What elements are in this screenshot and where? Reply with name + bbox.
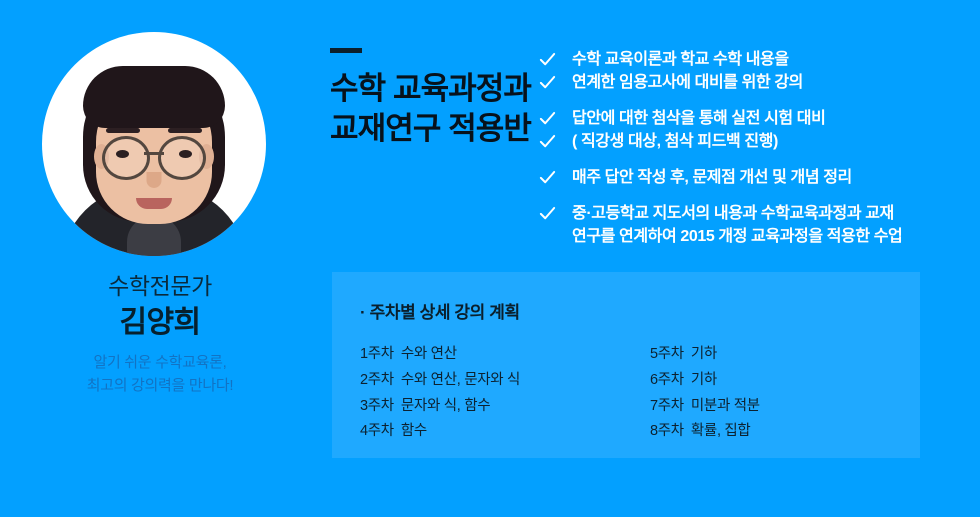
- feature-text: 중·고등학교 지도서의 내용과 수학교육과정과 교재 연구를 연계하여 2015…: [572, 202, 902, 248]
- instructor-role: 수학전문가: [0, 274, 320, 299]
- schedule-row: 8주차확률, 집합: [650, 419, 900, 445]
- week-topic: 기하: [691, 346, 717, 362]
- schedule-row: 1주차수와 연산: [360, 342, 650, 368]
- course-title-line1: 수학 교육과정과: [330, 69, 531, 109]
- course-title: 수학 교육과정과 교재연구 적용반: [330, 69, 531, 148]
- instructor-tagline: 알기 쉬운 수학교육론, 최고의 강의력을 만나다!: [0, 351, 320, 398]
- instructor-tagline-line1: 알기 쉬운 수학교육론,: [0, 351, 320, 374]
- week-label: 6주차: [650, 372, 684, 388]
- week-label: 2주차: [360, 372, 394, 388]
- feature-text: 답안에 대한 첨삭을 통해 실전 시험 대비 ( 직강생 대상, 첨삭 피드백 …: [572, 107, 825, 153]
- feature-line: 중·고등학교 지도서의 내용과 수학교육과정과 교재: [572, 202, 902, 225]
- schedule-row: 4주차함수: [360, 419, 650, 445]
- feature-line: 연계한 임용고사에 대비를 위한 강의: [572, 71, 803, 94]
- week-label: 8주차: [650, 423, 684, 439]
- feature-line: 연구를 연계하여 2015 개정 교육과정을 적용한 수업: [572, 225, 902, 248]
- feature-line: 매주 답안 작성 후, 문제점 개선 및 개념 정리: [572, 166, 852, 189]
- week-label: 3주차: [360, 398, 394, 414]
- course-title-line2: 교재연구 적용반: [330, 109, 531, 149]
- feature-item: 답안에 대한 첨삭을 통해 실전 시험 대비 ( 직강생 대상, 첨삭 피드백 …: [538, 107, 958, 153]
- schedule-row: 2주차수와 연산, 문자와 식: [360, 368, 650, 394]
- schedule-column-right: 5주차기하 6주차기하 7주차미분과 적분 8주차확률, 집합: [650, 342, 900, 445]
- week-label: 5주차: [650, 346, 684, 362]
- feature-text: 매주 답안 작성 후, 문제점 개선 및 개념 정리: [572, 166, 852, 189]
- schedule-row: 7주차미분과 적분: [650, 394, 900, 420]
- week-topic: 확률, 집합: [691, 423, 751, 439]
- week-topic: 수와 연산, 문자와 식: [401, 372, 520, 388]
- week-label: 7주차: [650, 398, 684, 414]
- week-label: 4주차: [360, 423, 394, 439]
- instructor-name: 김양희: [0, 306, 320, 339]
- course-title-block: 수학 교육과정과 교재연구 적용반: [330, 48, 531, 148]
- check-icon: [538, 73, 557, 92]
- schedule-row: 5주차기하: [650, 342, 900, 368]
- feature-line: 수학 교육이론과 학교 수학 내용을: [572, 48, 803, 71]
- schedule-panel: · 주차별 상세 강의 계획 1주차수와 연산 2주차수와 연산, 문자와 식 …: [332, 272, 920, 458]
- instructor-portrait: [42, 32, 266, 256]
- title-rule-accent: [330, 48, 362, 53]
- check-column: [538, 48, 572, 92]
- check-icon: [538, 50, 557, 69]
- schedule-row: 3주차문자와 식, 함수: [360, 394, 650, 420]
- feature-line: ( 직강생 대상, 첨삭 피드백 진행): [572, 130, 825, 153]
- schedule-row: 6주차기하: [650, 368, 900, 394]
- feature-list: 수학 교육이론과 학교 수학 내용을 연계한 임용고사에 대비를 위한 강의 답…: [538, 48, 958, 248]
- schedule-columns: 1주차수와 연산 2주차수와 연산, 문자와 식 3주차문자와 식, 함수 4주…: [360, 342, 900, 445]
- feature-line: 답안에 대한 첨삭을 통해 실전 시험 대비: [572, 107, 825, 130]
- schedule-heading: · 주차별 상세 강의 계획: [360, 298, 520, 323]
- feature-text: 수학 교육이론과 학교 수학 내용을 연계한 임용고사에 대비를 위한 강의: [572, 48, 803, 94]
- week-topic: 미분과 적분: [691, 398, 760, 414]
- check-icon: [538, 168, 557, 187]
- instructor-tagline-line2: 최고의 강의력을 만나다!: [0, 374, 320, 397]
- check-column: [538, 107, 572, 151]
- check-icon: [538, 132, 557, 151]
- feature-item: 중·고등학교 지도서의 내용과 수학교육과정과 교재 연구를 연계하여 2015…: [538, 202, 958, 248]
- check-column: [538, 202, 572, 223]
- feature-item: 매주 답안 작성 후, 문제점 개선 및 개념 정리: [538, 166, 958, 189]
- week-topic: 함수: [401, 423, 427, 439]
- check-icon: [538, 109, 557, 128]
- portrait-illustration: [42, 32, 266, 256]
- week-topic: 수와 연산: [401, 346, 457, 362]
- feature-item: 수학 교육이론과 학교 수학 내용을 연계한 임용고사에 대비를 위한 강의: [538, 48, 958, 94]
- check-icon: [538, 204, 557, 223]
- week-topic: 문자와 식, 함수: [401, 398, 490, 414]
- schedule-column-left: 1주차수와 연산 2주차수와 연산, 문자와 식 3주차문자와 식, 함수 4주…: [360, 342, 650, 445]
- instructor-column: 수학전문가 김양희 알기 쉬운 수학교육론, 최고의 강의력을 만나다!: [0, 0, 320, 517]
- week-topic: 기하: [691, 372, 717, 388]
- check-column: [538, 166, 572, 187]
- promo-banner: 수학전문가 김양희 알기 쉬운 수학교육론, 최고의 강의력을 만나다! 수학 …: [0, 0, 980, 517]
- week-label: 1주차: [360, 346, 394, 362]
